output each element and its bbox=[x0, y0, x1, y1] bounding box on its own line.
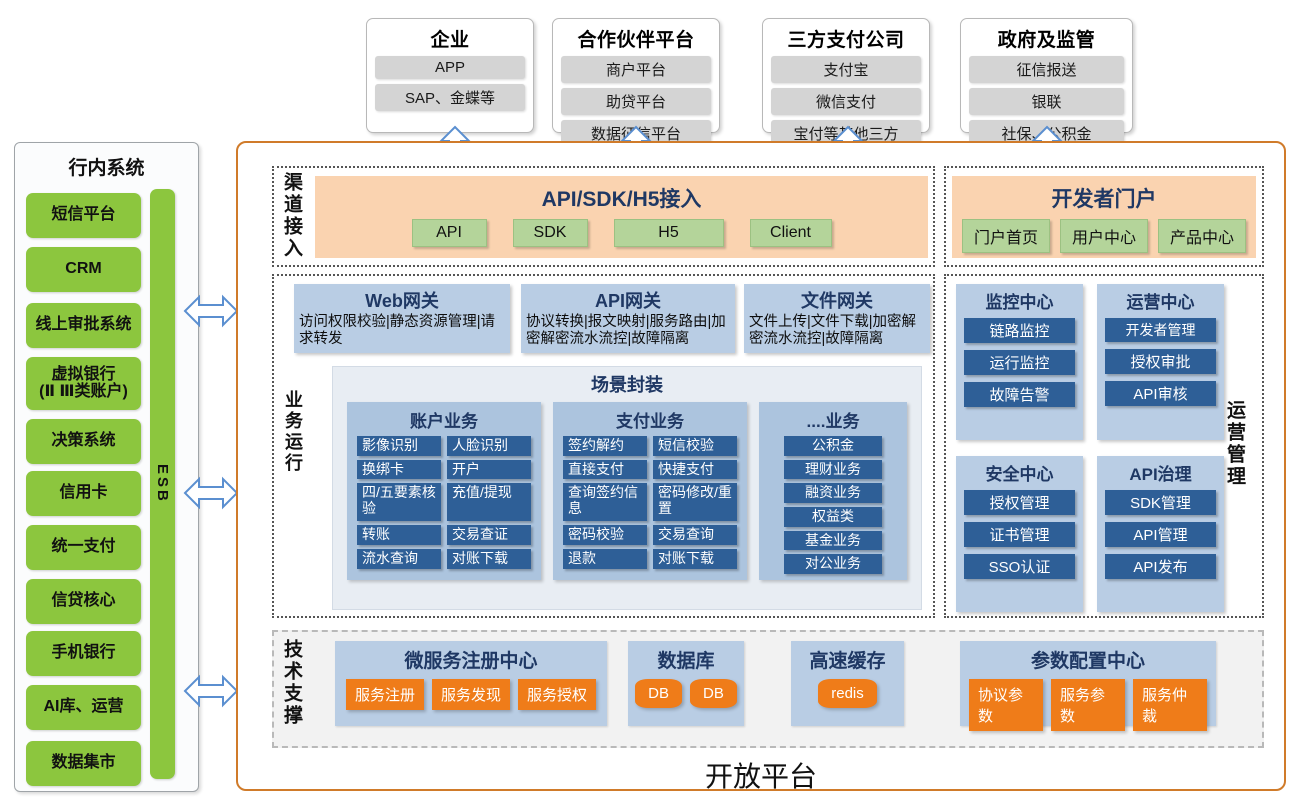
db-cylinder-icon[interactable]: DB bbox=[635, 679, 682, 708]
redis-cylinder-icon[interactable]: redis bbox=[818, 679, 877, 708]
external-item[interactable]: 征信报送 bbox=[969, 56, 1124, 83]
scene-chip[interactable]: 交易查证 bbox=[447, 525, 531, 545]
tech-chip[interactable]: 协议参数 bbox=[969, 679, 1043, 731]
ops-panel-title: 安全中心 bbox=[986, 460, 1054, 485]
developer-portal-band: 开发者门户 门户首页 用户中心 产品中心 bbox=[952, 176, 1256, 258]
gateway-card-web[interactable]: Web网关 访问权限校验|静态资源管理|请求转发 bbox=[294, 284, 510, 353]
external-card-title: 合作伙伴平台 bbox=[577, 25, 694, 52]
ops-chip[interactable]: 授权审批 bbox=[1105, 349, 1216, 374]
scene-chip[interactable]: 快捷支付 bbox=[653, 460, 737, 480]
inbank-item-credit-card[interactable]: 信用卡 bbox=[26, 471, 141, 516]
gateway-card-api[interactable]: API网关 协议转换|报文映射|服务路由|加密解密流水流控|故障隔离 bbox=[521, 284, 735, 353]
ops-chip[interactable]: SDK管理 bbox=[1105, 490, 1216, 515]
external-item[interactable]: APP bbox=[375, 56, 525, 79]
platform-title: 开放平台 bbox=[236, 755, 1286, 795]
ops-panel-security-center: 安全中心 授权管理 证书管理 SSO认证 bbox=[956, 456, 1083, 612]
tech-chip[interactable]: 服务注册 bbox=[346, 679, 424, 710]
scene-column-title: 支付业务 bbox=[616, 407, 684, 432]
channel-chip-sdk[interactable]: SDK bbox=[513, 219, 588, 247]
scene-chip[interactable]: 退款 bbox=[563, 549, 647, 569]
developer-chip-home[interactable]: 门户首页 bbox=[962, 219, 1050, 253]
tech-chip[interactable]: 服务发现 bbox=[432, 679, 510, 710]
ops-panel-monitor-center: 监控中心 链路监控 运行监控 故障告警 bbox=[956, 284, 1083, 440]
scene-chip[interactable]: 影像识别 bbox=[357, 436, 441, 456]
scene-package-panel: 场景封装 账户业务 影像识别 换绑卡 四/五要素核验 转账 流水查询 人脸识别 … bbox=[332, 366, 922, 610]
channel-chip-h5[interactable]: H5 bbox=[614, 219, 724, 247]
ops-chip[interactable]: 开发者管理 bbox=[1105, 318, 1216, 342]
external-card-title: 三方支付公司 bbox=[787, 25, 904, 52]
channel-chip-api[interactable]: API bbox=[412, 219, 487, 247]
scene-column-title: 账户业务 bbox=[410, 407, 478, 432]
esb-label: ESB bbox=[154, 464, 171, 504]
ops-chip[interactable]: 证书管理 bbox=[964, 522, 1075, 547]
external-card-title: 企业 bbox=[430, 25, 469, 52]
ops-chip[interactable]: SSO认证 bbox=[964, 554, 1075, 579]
business-run-label: 业务运行 bbox=[284, 390, 302, 474]
scene-chip[interactable]: 流水查询 bbox=[357, 549, 441, 569]
tech-support-label: 技术支撑 bbox=[282, 639, 301, 727]
inbank-item-virtual-bank[interactable]: 虚拟银行 (Ⅱ Ⅲ类账户) bbox=[26, 357, 141, 410]
arrow-left-right-business bbox=[185, 478, 237, 508]
ops-chip[interactable]: API管理 bbox=[1105, 522, 1216, 547]
developer-chip-product[interactable]: 产品中心 bbox=[1158, 219, 1246, 253]
ops-panel-api-governance: API治理 SDK管理 API管理 API发布 bbox=[1097, 456, 1224, 612]
ops-chip[interactable]: 故障告警 bbox=[964, 382, 1075, 407]
tech-card-database: 数据库 DB DB bbox=[628, 641, 744, 726]
ops-panel-title: 监控中心 bbox=[986, 288, 1054, 313]
scene-chip[interactable]: 签约解约 bbox=[563, 436, 647, 456]
inbank-item-ai-ops[interactable]: AI库、运营 bbox=[26, 685, 141, 730]
tech-card-title: 高速缓存 bbox=[809, 646, 885, 673]
tech-card-cache: 高速缓存 redis bbox=[791, 641, 904, 726]
inbank-item-mobile-bank[interactable]: 手机银行 bbox=[26, 631, 141, 676]
scene-chip[interactable]: 基金业务 bbox=[784, 531, 882, 551]
scene-column-other: ....业务 公积金 理财业务 融资业务 权益类 基金业务 对公业务 bbox=[759, 402, 907, 580]
ops-chip[interactable]: API审核 bbox=[1105, 381, 1216, 406]
scene-chip[interactable]: 交易查询 bbox=[653, 525, 737, 545]
external-item[interactable]: 微信支付 bbox=[771, 88, 921, 115]
scene-chip[interactable]: 充值/提现 bbox=[447, 483, 531, 521]
external-card-government-regulator[interactable]: 政府及监管 征信报送 银联 社保、公积金 bbox=[960, 18, 1133, 133]
gateway-desc: 文件上传|文件下载|加密解密流水流控|故障隔离 bbox=[744, 314, 930, 351]
gateway-card-file[interactable]: 文件网关 文件上传|文件下载|加密解密流水流控|故障隔离 bbox=[744, 284, 930, 353]
esb-bus[interactable]: ESB bbox=[150, 189, 175, 779]
scene-chip[interactable]: 权益类 bbox=[784, 507, 882, 527]
inbank-item-approval[interactable]: 线上审批系统 bbox=[26, 303, 141, 348]
external-card-partner-platform[interactable]: 合作伙伴平台 商户平台 助贷平台 数据征信平台 bbox=[552, 18, 720, 133]
ops-chip[interactable]: 授权管理 bbox=[964, 490, 1075, 515]
scene-chip[interactable]: 四/五要素核验 bbox=[357, 483, 441, 521]
ops-panel-operation-center: 运营中心 开发者管理 授权审批 API审核 bbox=[1097, 284, 1224, 440]
gateway-desc: 访问权限校验|静态资源管理|请求转发 bbox=[294, 314, 510, 351]
ops-panel-title: 运营中心 bbox=[1127, 288, 1195, 313]
developer-chip-user[interactable]: 用户中心 bbox=[1060, 219, 1148, 253]
scene-chip[interactable]: 人脸识别 bbox=[447, 436, 531, 456]
arrow-left-right-tech bbox=[185, 676, 237, 706]
scene-chip[interactable]: 融资业务 bbox=[784, 483, 882, 503]
external-item[interactable]: SAP、金蝶等 bbox=[375, 84, 525, 111]
scene-column-title: ....业务 bbox=[807, 407, 860, 432]
channel-chip-client[interactable]: Client bbox=[750, 219, 832, 247]
developer-portal-title: 开发者门户 bbox=[1052, 183, 1157, 213]
tech-chip[interactable]: 服务仲裁 bbox=[1133, 679, 1207, 731]
tech-card-title: 微服务注册中心 bbox=[404, 646, 537, 673]
scene-chip[interactable]: 转账 bbox=[357, 525, 441, 545]
external-item[interactable]: 商户平台 bbox=[561, 56, 711, 83]
scene-chip[interactable]: 密码校验 bbox=[563, 525, 647, 545]
external-card-title: 政府及监管 bbox=[998, 25, 1096, 52]
scene-chip[interactable]: 换绑卡 bbox=[357, 460, 441, 480]
inbank-item-credit-core[interactable]: 信贷核心 bbox=[26, 579, 141, 624]
tech-chip[interactable]: 服务参数 bbox=[1051, 679, 1125, 731]
scene-chip[interactable]: 公积金 bbox=[784, 436, 882, 456]
inbank-item-sms[interactable]: 短信平台 bbox=[26, 193, 141, 238]
scene-chip[interactable]: 理财业务 bbox=[784, 460, 882, 480]
inbank-item-decision[interactable]: 决策系统 bbox=[26, 419, 141, 464]
arrow-left-right-channel bbox=[185, 296, 237, 326]
scene-column-account: 账户业务 影像识别 换绑卡 四/五要素核验 转账 流水查询 人脸识别 开户 充值… bbox=[347, 402, 541, 580]
scene-column-payment: 支付业务 签约解约 直接支付 查询签约信息 密码校验 退款 短信校验 快捷支付 … bbox=[553, 402, 747, 580]
scene-chip[interactable]: 开户 bbox=[447, 460, 531, 480]
operations-management-label: 运营管理 bbox=[1225, 400, 1244, 488]
tech-card-microservice-registry: 微服务注册中心 服务注册 服务发现 服务授权 bbox=[335, 641, 607, 726]
channel-access-label: 渠道接入 bbox=[282, 172, 301, 260]
scene-chip[interactable]: 对账下载 bbox=[653, 549, 737, 569]
inbank-item-unified-payment[interactable]: 统一支付 bbox=[26, 525, 141, 570]
external-card-enterprise[interactable]: 企业 APP SAP、金蝶等 bbox=[366, 18, 534, 133]
external-item[interactable]: 支付宝 bbox=[771, 56, 921, 83]
gateway-title: 文件网关 bbox=[801, 287, 873, 313]
scene-chip[interactable]: 查询签约信息 bbox=[563, 483, 647, 521]
gateway-desc: 协议转换|报文映射|服务路由|加密解密流水流控|故障隔离 bbox=[521, 314, 735, 351]
scene-chip[interactable]: 对公业务 bbox=[784, 554, 882, 574]
scene-chip[interactable]: 对账下载 bbox=[447, 549, 531, 569]
ops-chip[interactable]: API发布 bbox=[1105, 554, 1216, 579]
scene-chip[interactable]: 短信校验 bbox=[653, 436, 737, 456]
ops-panel-title: API治理 bbox=[1129, 460, 1191, 485]
inbank-item-label: 虚拟银行 (Ⅱ Ⅲ类账户) bbox=[39, 367, 128, 401]
scene-package-title: 场景封装 bbox=[591, 371, 663, 397]
api-sdk-h5-access-title: API/SDK/H5接入 bbox=[542, 183, 702, 213]
scene-chip[interactable]: 直接支付 bbox=[563, 460, 647, 480]
ops-chip[interactable]: 运行监控 bbox=[964, 350, 1075, 375]
gateway-title: Web网关 bbox=[365, 287, 439, 313]
ops-chip[interactable]: 链路监控 bbox=[964, 318, 1075, 343]
inbank-item-crm[interactable]: CRM bbox=[26, 247, 141, 292]
inbank-title: 行内系统 bbox=[15, 143, 198, 180]
gateway-title: API网关 bbox=[595, 287, 661, 313]
tech-card-title: 参数配置中心 bbox=[1031, 646, 1145, 673]
external-card-third-party-payment[interactable]: 三方支付公司 支付宝 微信支付 宝付等其他三方 bbox=[762, 18, 930, 133]
tech-card-param-config: 参数配置中心 协议参数 服务参数 服务仲裁 bbox=[960, 641, 1216, 726]
api-sdk-h5-access-band: API/SDK/H5接入 API SDK H5 Client bbox=[315, 176, 928, 258]
external-item[interactable]: 助贷平台 bbox=[561, 88, 711, 115]
db-cylinder-icon[interactable]: DB bbox=[690, 679, 737, 708]
external-item[interactable]: 银联 bbox=[969, 88, 1124, 115]
tech-card-title: 数据库 bbox=[657, 646, 714, 673]
scene-chip[interactable]: 密码修改/重置 bbox=[653, 483, 737, 521]
tech-chip[interactable]: 服务授权 bbox=[518, 679, 596, 710]
inbank-item-data-mart[interactable]: 数据集市 bbox=[26, 741, 141, 786]
